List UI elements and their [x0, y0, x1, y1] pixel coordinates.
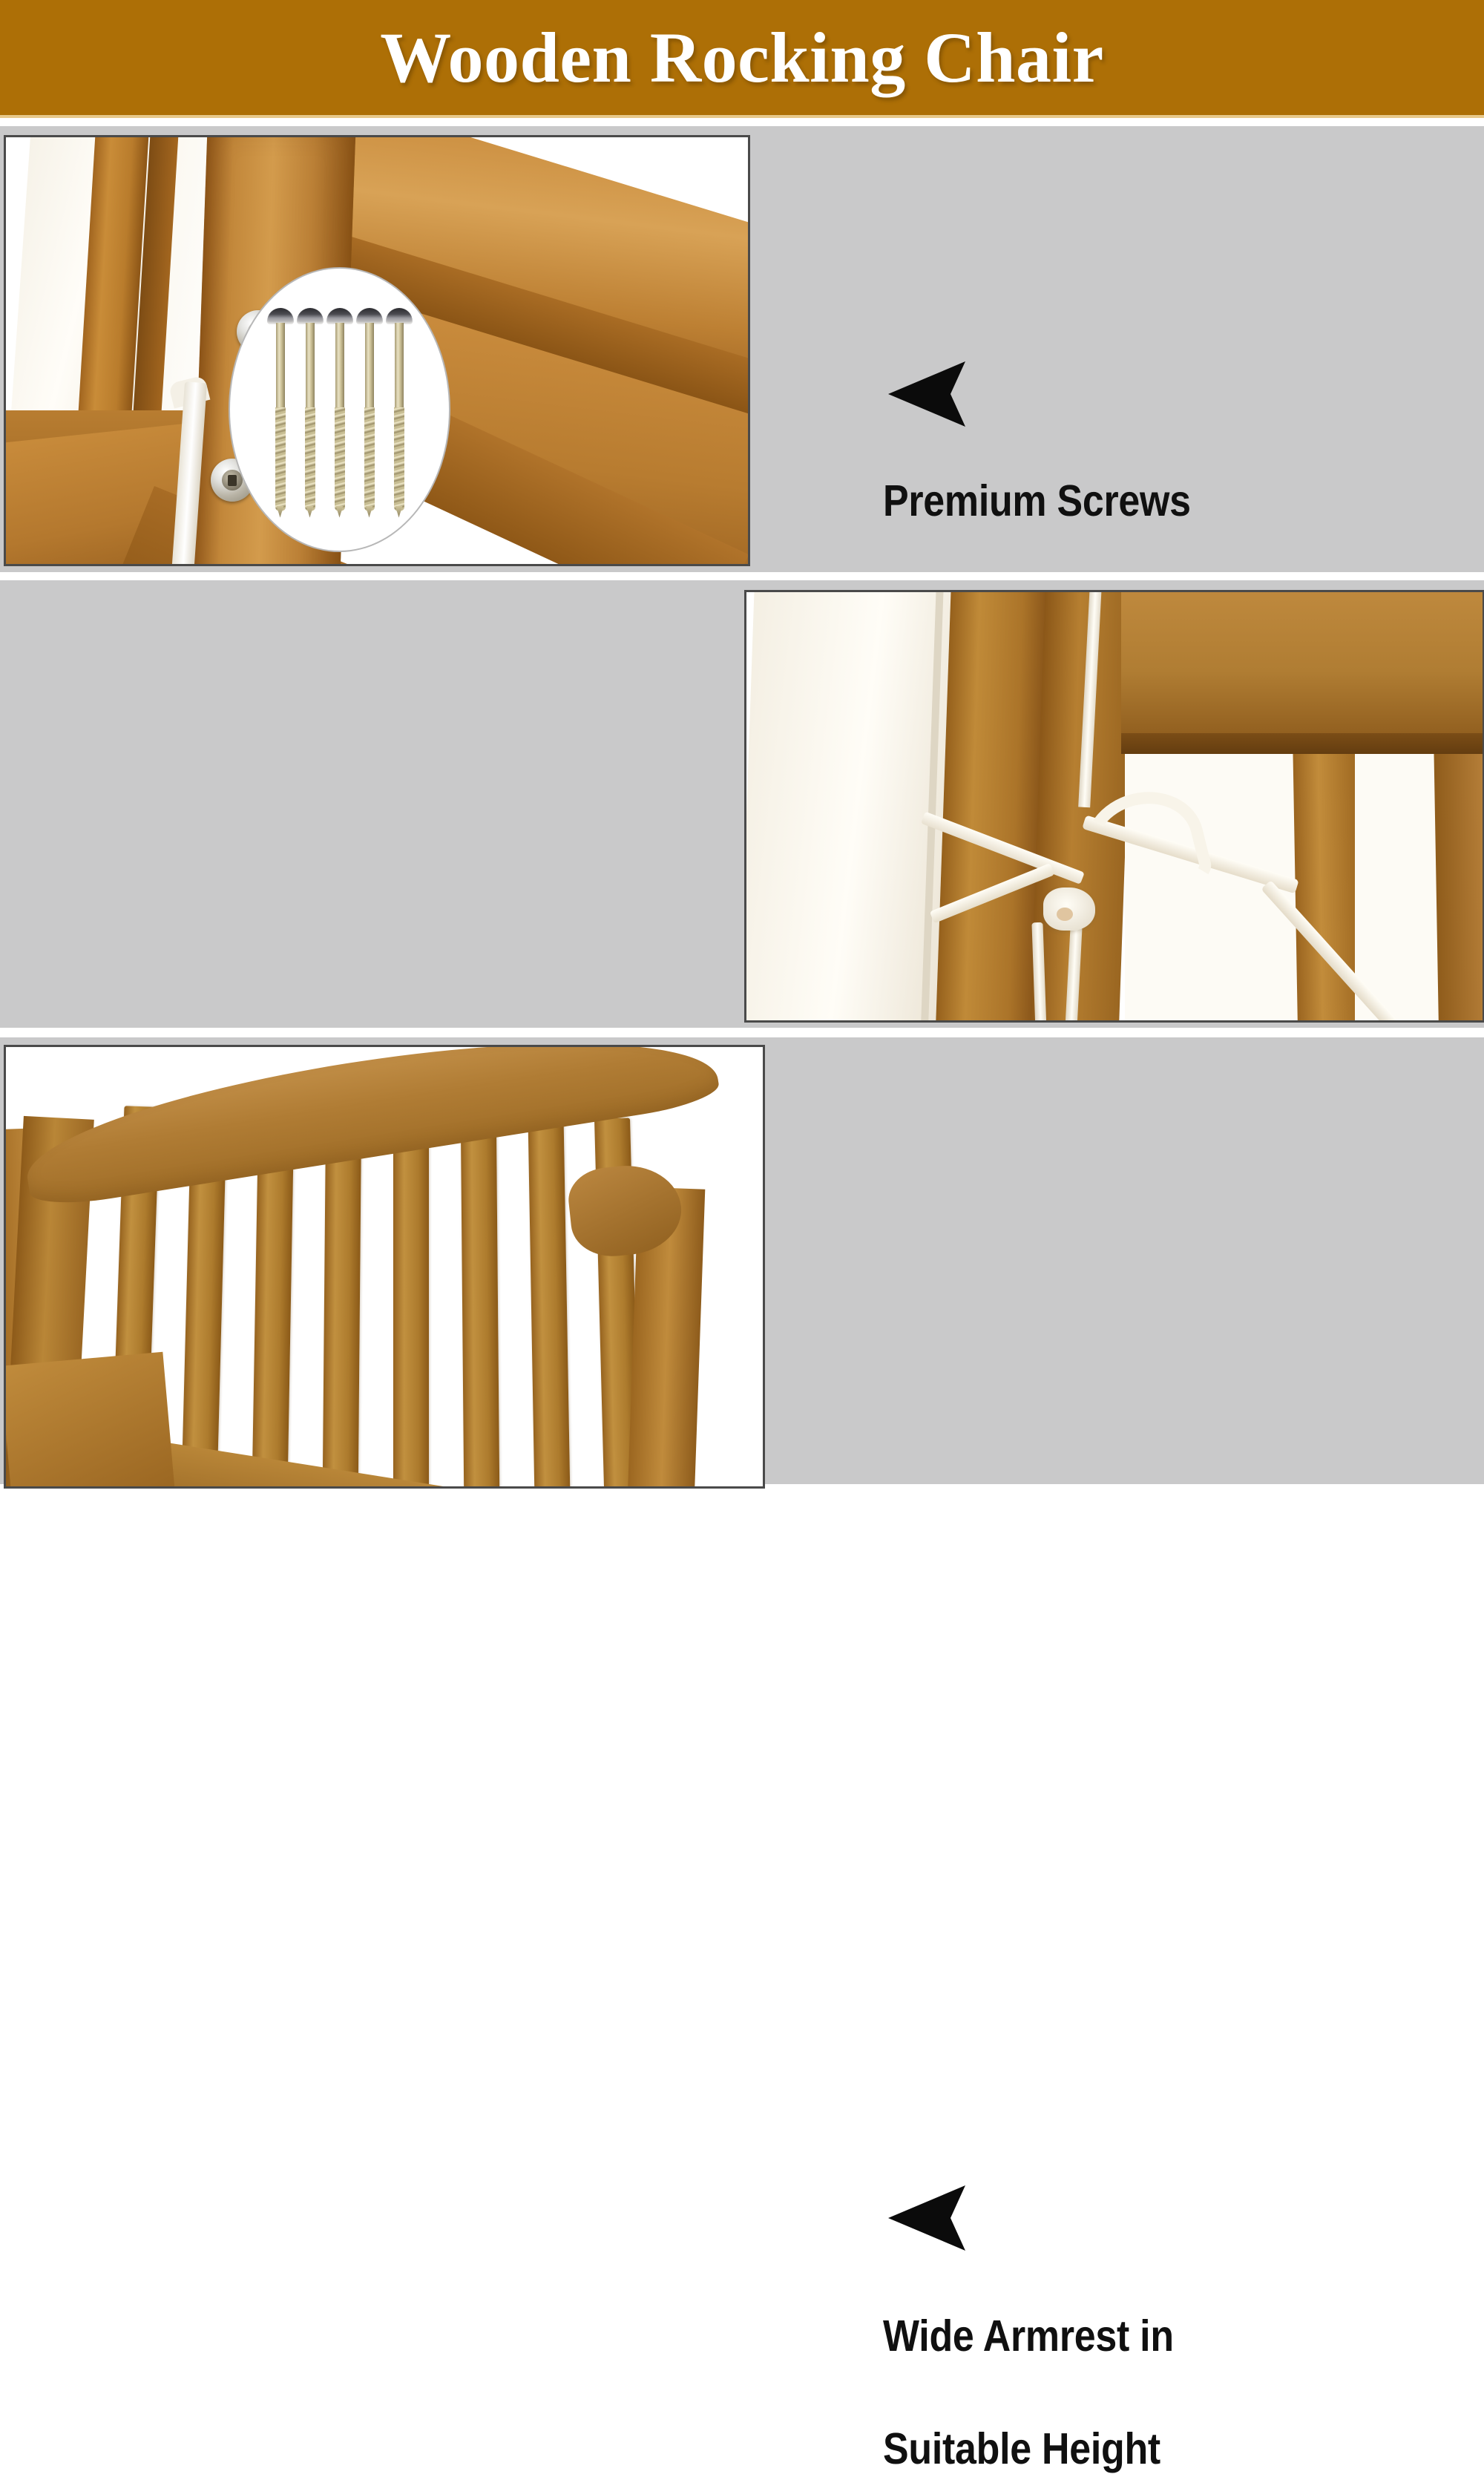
screw-thread [364, 407, 375, 511]
chair-back-slat [461, 1090, 500, 1486]
photo-2-illustration [746, 592, 1483, 1020]
header-underline [0, 115, 1484, 118]
screw-head [356, 308, 383, 324]
header-banner: Wooden Rocking Chair [0, 0, 1484, 115]
callout-wide-armrest: Wide Armrest in Suitable Height [883, 2184, 1213, 2477]
callout-line-1: Premium Screws [883, 473, 1191, 530]
callout-line-2: Suitable Height [883, 2421, 1174, 2477]
screw-head [267, 308, 294, 324]
screw-tip [395, 506, 403, 518]
screw-shank [276, 323, 285, 410]
wood-slat-1 [935, 592, 1048, 1020]
armrest-block [6, 1352, 175, 1486]
page-title: Wooden Rocking Chair [380, 16, 1103, 99]
chair-back-slat [528, 1100, 571, 1486]
screw-icon [274, 308, 287, 512]
screw-group [230, 269, 449, 551]
screw-thread [275, 407, 286, 511]
photo-3-illustration [6, 1047, 763, 1486]
section-string-to-fix-cushion: String to Fix Cushion [0, 580, 1484, 1028]
screw-shank [365, 323, 374, 410]
string-knot-core [1057, 908, 1073, 921]
photo-cushion-string-tie [744, 590, 1484, 1023]
screw-head [326, 308, 353, 324]
cushion-backdrop-2 [1355, 754, 1444, 1020]
screw-icon [333, 308, 347, 512]
arrow-left-icon [887, 2184, 1213, 2252]
screw-thread [305, 407, 315, 511]
screw-tip [336, 506, 344, 518]
cushion-body [746, 592, 951, 1020]
screw-shank [306, 323, 315, 410]
screw-icon [363, 308, 376, 512]
screw-shank [395, 323, 404, 410]
screw-thread [394, 407, 404, 511]
callout-line-1: Wide Armrest in [883, 2308, 1174, 2365]
screw-tip [277, 506, 284, 518]
screw-head [297, 308, 324, 324]
screw-thread [335, 407, 345, 511]
wood-top-rail-edge [1121, 733, 1483, 754]
arrow-left-icon [887, 360, 1232, 428]
screw-icon [303, 308, 317, 512]
section-wide-armrest: Wide Armrest in Suitable Height [0, 1037, 1484, 1484]
photo-1-illustration [6, 137, 748, 564]
infographic-page: Wooden Rocking Chair [0, 0, 1484, 1484]
screw-icon [393, 308, 406, 512]
screw-shank [335, 323, 344, 410]
section-premium-screws: Premium Screws to Connect Parts [0, 126, 1484, 572]
photo-chair-joint-screws [4, 135, 750, 566]
screw-tip [366, 506, 373, 518]
screw-head [386, 308, 413, 324]
wood-top-rail [1121, 592, 1483, 743]
screws-inset-oval [229, 267, 450, 552]
wood-slat-4 [1434, 754, 1483, 1020]
photo-chair-back-armrest [4, 1045, 765, 1489]
screw-tip [306, 506, 314, 518]
